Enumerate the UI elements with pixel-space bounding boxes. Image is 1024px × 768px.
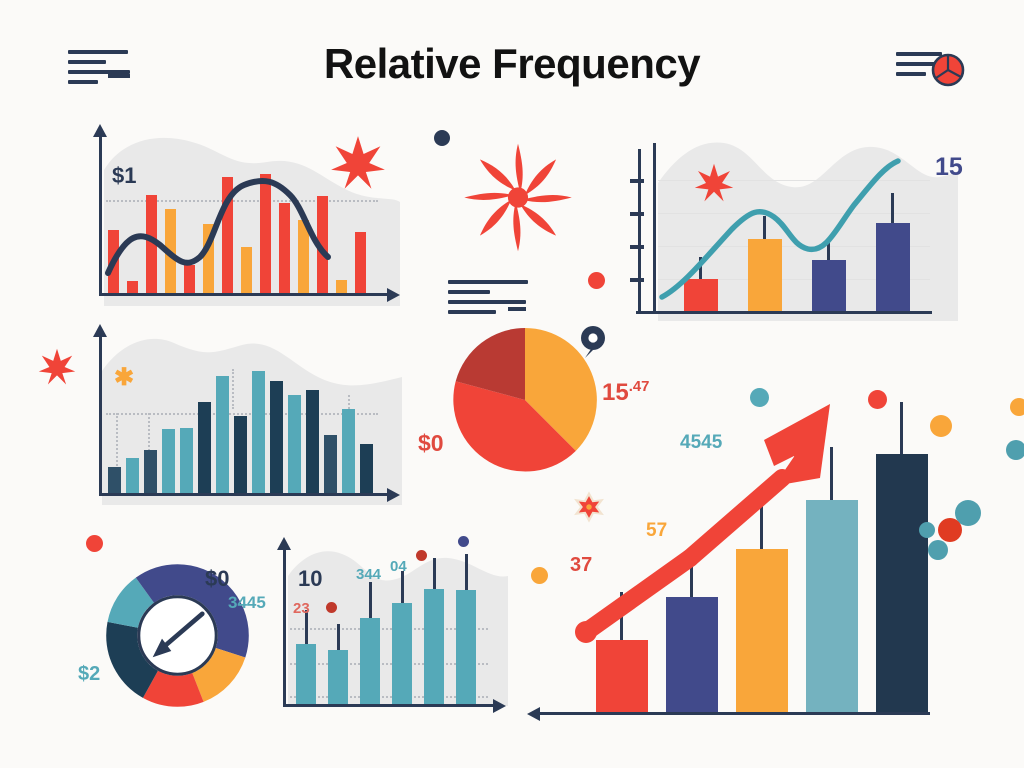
y-tick xyxy=(630,179,644,183)
dot-navy-small xyxy=(458,536,469,547)
y-axis xyxy=(99,135,102,295)
dot-red-small xyxy=(416,550,427,561)
x-axis-arrow-icon xyxy=(493,699,506,713)
bar xyxy=(328,650,348,704)
line-4 xyxy=(448,310,496,314)
starburst-center-icon xyxy=(462,140,574,260)
x-axis xyxy=(636,311,932,314)
donut-label-two: $2 xyxy=(78,663,100,686)
chart2-annotation: 15 xyxy=(935,153,963,182)
x-axis-arrow-icon xyxy=(387,488,400,502)
chart1-annotation: $1 xyxy=(112,163,136,189)
pie-label-zero: $0 xyxy=(418,430,444,457)
error-bar xyxy=(337,624,340,650)
chart-bars-bottom-right: 37 57 4545 xyxy=(528,372,948,732)
error-bar xyxy=(369,582,372,618)
chart5-label-23: 23 xyxy=(293,600,310,617)
donut-label-zero: $0 xyxy=(205,566,229,592)
chart6-label-37: 37 xyxy=(570,554,592,577)
y-axis-arrow-icon xyxy=(277,537,291,550)
line-3 xyxy=(448,300,526,304)
x-axis xyxy=(283,704,495,707)
starburst-left-small-icon xyxy=(38,348,76,391)
error-bar xyxy=(401,571,404,603)
center-text-line-dash xyxy=(508,307,526,311)
dot-red-right xyxy=(868,390,887,409)
x-axis xyxy=(538,712,930,715)
y-axis-arrow-icon xyxy=(93,324,107,337)
infographic-canvas: Relative Frequency xyxy=(0,0,1024,768)
y-axis-inner xyxy=(653,143,656,313)
chart-bars-top-right: 15 xyxy=(630,135,960,330)
error-bar xyxy=(900,402,903,454)
chart-bars-mid-left: ✱ xyxy=(80,325,400,515)
line-3 xyxy=(896,72,926,76)
donut-svg xyxy=(100,558,255,713)
bar-group xyxy=(106,345,378,493)
chart5-label-344: 344 xyxy=(356,566,381,583)
y-axis-outer xyxy=(638,149,641,313)
line-2 xyxy=(448,290,490,294)
donut-label-3445: 3445 xyxy=(228,593,266,613)
y-axis xyxy=(283,548,286,704)
bar xyxy=(144,450,157,493)
bar xyxy=(180,428,193,493)
dot-red-small xyxy=(326,602,337,613)
chart-bars-bottom-center: 10 23 344 04 xyxy=(268,538,513,718)
bar xyxy=(216,376,229,493)
starburst-top-right-chart-icon xyxy=(694,163,734,208)
bar xyxy=(234,416,247,493)
growth-arrow xyxy=(568,382,898,682)
chart5-label-10: 10 xyxy=(298,566,322,592)
chart5-label-04: 04 xyxy=(390,558,407,575)
y-tick xyxy=(630,212,644,216)
dot-red-mid xyxy=(588,272,605,289)
x-axis-arrow-icon xyxy=(387,288,400,302)
bar xyxy=(198,402,211,493)
bar xyxy=(456,590,476,704)
dot-red-left xyxy=(86,535,103,552)
dot-orange-edge xyxy=(1010,398,1024,416)
bar xyxy=(342,409,355,493)
dot-red-cluster xyxy=(938,518,962,542)
bar xyxy=(296,644,316,704)
bar xyxy=(252,371,265,493)
dot-teal-cluster-bottom xyxy=(928,540,948,560)
bar xyxy=(360,444,373,493)
dot-teal-edge xyxy=(1006,440,1024,460)
bar xyxy=(126,458,139,493)
error-bar xyxy=(433,558,436,589)
y-tick xyxy=(630,278,644,282)
chart-donut-gauge: $0 3445 $2 xyxy=(100,558,270,723)
y-tick xyxy=(630,245,644,249)
bar xyxy=(392,603,412,704)
x-axis xyxy=(99,493,389,496)
y-axis-arrow-icon xyxy=(93,124,107,137)
bar xyxy=(324,435,337,493)
error-bar xyxy=(465,554,468,590)
location-pin-icon xyxy=(578,324,608,365)
dot-teal-right xyxy=(750,388,769,407)
dot-orange-left-small xyxy=(531,567,548,584)
bar xyxy=(306,390,319,493)
page-title: Relative Frequency xyxy=(0,40,1024,88)
bar xyxy=(162,429,175,493)
dot-navy-top xyxy=(434,130,450,146)
chart6-label-4545: 4545 xyxy=(680,432,722,454)
line-1 xyxy=(448,280,528,284)
bar xyxy=(108,467,121,493)
y-axis xyxy=(99,335,102,495)
chart6-label-57: 57 xyxy=(646,520,667,542)
x-axis-arrow-icon xyxy=(527,707,540,721)
asterisk-marker-icon: ✱ xyxy=(114,363,134,392)
bar xyxy=(360,618,380,704)
dot-orange-right xyxy=(930,415,952,437)
bar xyxy=(270,381,283,493)
pie-chart-icon[interactable] xyxy=(930,52,966,93)
x-axis xyxy=(99,293,389,296)
starburst-top-left-chart-icon xyxy=(330,135,386,196)
bar xyxy=(424,589,444,704)
dot-teal-cluster-small xyxy=(919,522,935,538)
bar xyxy=(288,395,301,493)
